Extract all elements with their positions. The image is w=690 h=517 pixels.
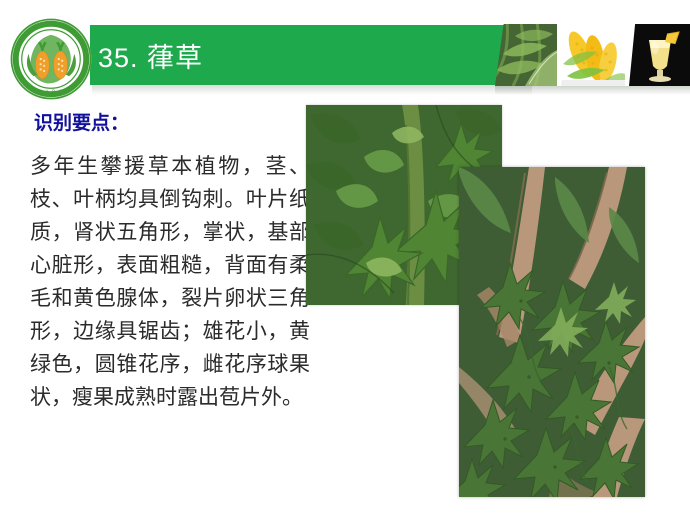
slide-canvas: 35. 葎草 <box>0 0 690 517</box>
corn-plants-photo <box>495 24 557 86</box>
humulus-in-cornfield-photo <box>459 167 645 497</box>
identification-points-heading: 识别要点： <box>34 108 129 135</box>
description-text: 多年生攀援草本植物，茎、枝、叶柄均具倒钩刺。叶片纸质，肾状五角形，掌状，基部心脏… <box>30 150 310 414</box>
title-bar-reflection <box>92 85 532 95</box>
svg-text:N A D S: N A D S <box>39 89 64 94</box>
header-thumbnail-strip <box>495 24 690 86</box>
slide-header: 35. 葎草 <box>0 0 690 100</box>
corn-research-institute-emblem-icon: 国家现代玉米产业技术体系 N A D S <box>8 16 94 102</box>
thumbnail-reflection <box>495 86 690 95</box>
corn-cobs-photo <box>561 24 625 86</box>
page-title: 35. 葎草 <box>98 28 498 82</box>
corn-juice-photo <box>629 24 690 86</box>
